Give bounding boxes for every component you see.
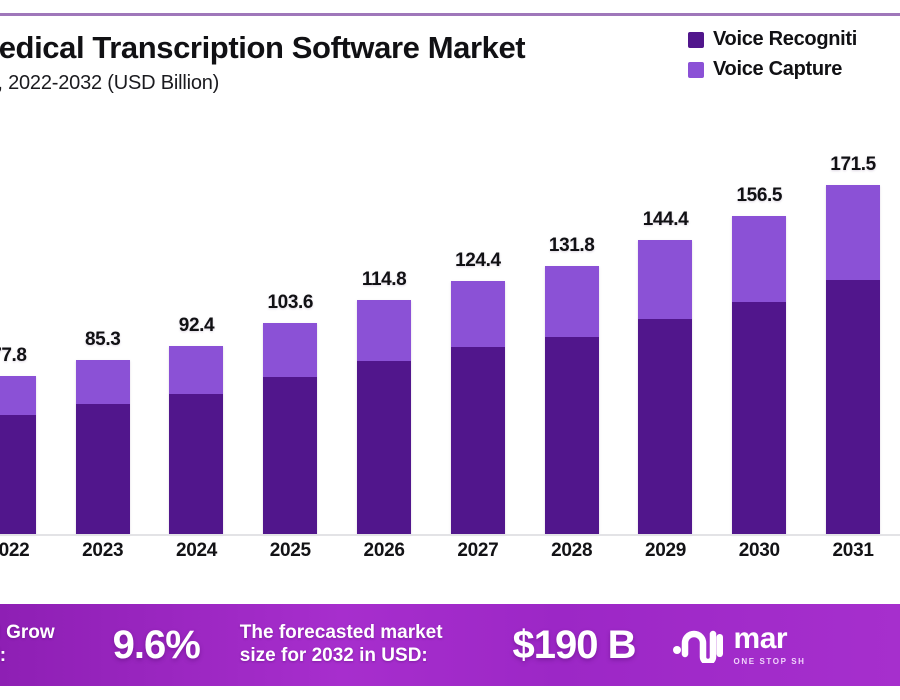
top-rule-divider — [0, 13, 900, 16]
chart-plot-area: 77.885.392.4103.6114.8124.4131.8144.4156… — [0, 130, 900, 534]
stacked-bar[interactable]: 92.4 — [169, 346, 223, 534]
bar-segment-voice-recognition[interactable] — [169, 394, 223, 534]
forecast-value: $190 B — [513, 623, 636, 668]
legend-swatch-icon-voice-recognition — [688, 32, 704, 48]
bar-segment-voice-capture[interactable] — [357, 300, 411, 360]
stacked-bar[interactable]: 131.8 — [545, 266, 599, 534]
bar-segment-voice-recognition[interactable] — [545, 337, 599, 534]
brand-logo[interactable]: mar ONE STOP SH — [672, 623, 806, 668]
forecast-caption-line2: size for 2032 in USD: — [240, 645, 443, 668]
bar-slot: 92.4 — [150, 130, 244, 534]
bar-value-label: 103.6 — [268, 292, 314, 314]
bar-segment-voice-recognition[interactable] — [263, 377, 317, 534]
legend-label-voice-recognition: Voice Recogniti — [713, 28, 857, 51]
x-axis-tick-2024: 2024 — [150, 540, 244, 562]
bar-value-label: 156.5 — [736, 185, 782, 207]
cagr-block: et will Grow GR of: 9.6% — [0, 622, 200, 668]
brand-name: mar — [734, 624, 806, 654]
bar-segment-voice-capture[interactable] — [0, 376, 36, 415]
bar-segment-voice-capture[interactable] — [451, 281, 505, 347]
bar-value-label: 144.4 — [643, 209, 689, 231]
legend-item-voice-recognition[interactable]: Voice Recogniti — [688, 28, 900, 51]
stacked-bar[interactable]: 85.3 — [76, 360, 130, 534]
x-axis-tick-2029: 2029 — [619, 540, 713, 562]
bar-group: 77.885.392.4103.6114.8124.4131.8144.4156… — [0, 130, 900, 534]
stacked-bar[interactable]: 77.8 — [0, 376, 36, 534]
x-axis-line — [0, 534, 900, 536]
x-axis-tick-2022: 2022 — [0, 540, 56, 562]
bar-segment-voice-recognition[interactable] — [76, 404, 130, 534]
bar-segment-voice-recognition[interactable] — [0, 415, 36, 534]
bar-segment-voice-capture[interactable] — [826, 185, 880, 280]
bar-segment-voice-recognition[interactable] — [357, 361, 411, 534]
stacked-bar[interactable]: 103.6 — [263, 323, 317, 534]
forecast-caption: The forecasted market size for 2032 in U… — [240, 622, 443, 668]
bar-segment-voice-recognition[interactable] — [451, 347, 505, 534]
bar-value-label: 114.8 — [362, 269, 407, 291]
bar-segment-voice-recognition[interactable] — [732, 302, 786, 534]
stacked-bar[interactable]: 114.8 — [357, 300, 411, 534]
bar-slot: 144.4 — [619, 130, 713, 534]
bar-slot: 103.6 — [243, 130, 337, 534]
brand-logo-text: mar ONE STOP SH — [734, 624, 806, 666]
bar-value-label: 171.5 — [830, 154, 876, 176]
cagr-caption-line1: et will Grow — [0, 622, 55, 645]
bar-segment-voice-capture[interactable] — [545, 266, 599, 337]
cagr-caption: et will Grow GR of: — [0, 622, 55, 668]
bar-value-label: 131.8 — [549, 235, 595, 257]
bar-value-label: 124.4 — [455, 250, 501, 272]
legend-label-voice-capture: Voice Capture — [713, 58, 842, 81]
bar-slot: 156.5 — [712, 130, 806, 534]
x-axis-tick-2026: 2026 — [337, 540, 431, 562]
chart-header: al Medical Transcription Software Market… — [0, 30, 720, 95]
bar-segment-voice-capture[interactable] — [76, 360, 130, 404]
bar-slot: 171.5 — [806, 130, 900, 534]
stacked-bar[interactable]: 156.5 — [732, 216, 786, 534]
bar-value-label: 77.8 — [0, 345, 27, 367]
bar-segment-voice-recognition[interactable] — [826, 280, 880, 534]
forecast-block: The forecasted market size for 2032 in U… — [240, 622, 636, 668]
summary-banner: et will Grow GR of: 9.6% The forecasted … — [0, 604, 900, 686]
bar-value-label: 92.4 — [179, 315, 214, 337]
infographic-root: al Medical Transcription Software Market… — [0, 0, 900, 700]
stacked-bar[interactable]: 124.4 — [451, 281, 505, 534]
legend-item-voice-capture[interactable]: Voice Capture — [688, 58, 900, 81]
bar-slot: 77.8 — [0, 130, 56, 534]
page-title: al Medical Transcription Software Market — [0, 30, 720, 67]
x-axis-tick-2028: 2028 — [525, 540, 619, 562]
bar-segment-voice-capture[interactable] — [732, 216, 786, 302]
chart-legend: Voice Recogniti Voice Capture — [688, 28, 900, 88]
x-axis-tick-2025: 2025 — [243, 540, 337, 562]
bar-segment-voice-recognition[interactable] — [638, 319, 692, 535]
x-axis-tick-2027: 2027 — [431, 540, 525, 562]
bar-segment-voice-capture[interactable] — [169, 346, 223, 394]
bar-slot: 131.8 — [525, 130, 619, 534]
market-us-logo-icon — [672, 623, 724, 668]
bar-slot: 114.8 — [337, 130, 431, 534]
bar-slot: 85.3 — [56, 130, 150, 534]
forecast-caption-line1: The forecasted market — [240, 622, 443, 645]
cagr-value: 9.6% — [113, 623, 200, 668]
stacked-bar[interactable]: 171.5 — [826, 185, 880, 534]
bar-segment-voice-capture[interactable] — [263, 323, 317, 377]
x-axis-tick-2023: 2023 — [56, 540, 150, 562]
x-axis-tick-2030: 2030 — [712, 540, 806, 562]
bar-slot: 124.4 — [431, 130, 525, 534]
stacked-bar[interactable]: 144.4 — [638, 240, 692, 534]
bar-segment-voice-capture[interactable] — [638, 240, 692, 318]
x-axis-tick-2031: 2031 — [806, 540, 900, 562]
cagr-caption-line2: GR of: — [0, 645, 55, 668]
brand-tagline: ONE STOP SH — [734, 658, 806, 666]
x-axis-tick-labels: 2022202320242025202620272028202920302031 — [0, 540, 900, 562]
legend-swatch-icon-voice-capture — [688, 62, 704, 78]
bar-value-label: 85.3 — [85, 329, 120, 351]
page-subtitle: y Type, 2022-2032 (USD Billion) — [0, 72, 720, 95]
